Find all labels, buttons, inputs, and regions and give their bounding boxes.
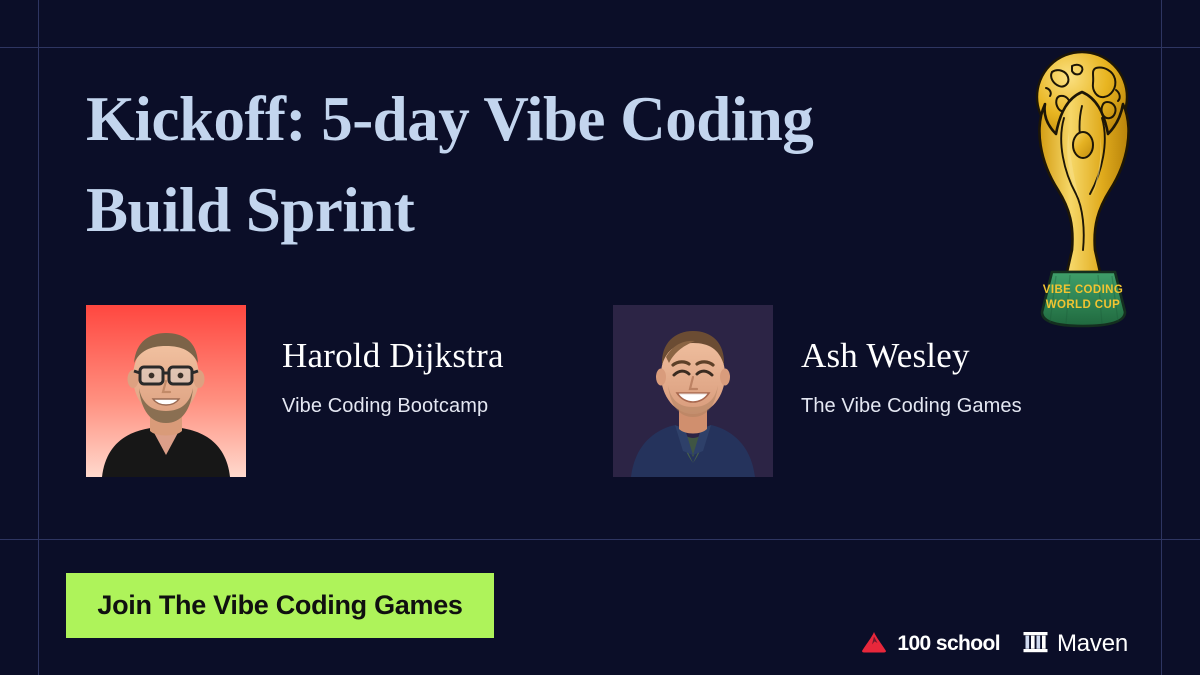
speaker-info: Ash Wesley The Vibe Coding Games (773, 305, 1022, 418)
cta-label: Join The Vibe Coding Games (97, 590, 462, 621)
logo-label: 100 school (897, 632, 1000, 656)
logo-100-school: 100 school (860, 630, 1000, 659)
logo-label: Maven (1057, 630, 1128, 658)
slide-title: Kickoff: 5-day Vibe Coding Build Sprint (86, 74, 946, 255)
trophy-base-line-1: VIBE CODING (1043, 284, 1123, 296)
speaker-organization: Vibe Coding Bootcamp (282, 395, 504, 418)
footer-logos: 100 school Maven (860, 626, 1128, 662)
grid-line-vertical-left (38, 0, 39, 675)
join-the-vibe-coding-games-button[interactable]: Join The Vibe Coding Games (66, 573, 494, 638)
speaker-card-harold-dijkstra: Harold Dijkstra Vibe Coding Bootcamp (86, 305, 504, 485)
presentation-slide: Kickoff: 5-day Vibe Coding Build Sprint (0, 0, 1200, 675)
grid-line-horizontal-bottom (0, 539, 1200, 540)
speaker-organization: The Vibe Coding Games (801, 395, 1022, 418)
trophy-icon: VIBE CODING WORLD CUP (1012, 44, 1152, 334)
ash-wesley-headshot (613, 305, 773, 477)
speaker-name: Ash Wesley (801, 335, 1022, 376)
speaker-list: Harold Dijkstra Vibe Coding Bootcamp (86, 305, 1116, 485)
speaker-name: Harold Dijkstra (282, 335, 504, 376)
logo-maven: Maven (1023, 630, 1128, 659)
grid-line-vertical-right (1161, 0, 1162, 675)
pillar-icon (1023, 630, 1048, 659)
harold-dijkstra-headshot (86, 305, 246, 477)
speaker-info: Harold Dijkstra Vibe Coding Bootcamp (246, 305, 504, 418)
speaker-card-ash-wesley: Ash Wesley The Vibe Coding Games (613, 305, 1022, 485)
mountain-icon (860, 630, 888, 659)
